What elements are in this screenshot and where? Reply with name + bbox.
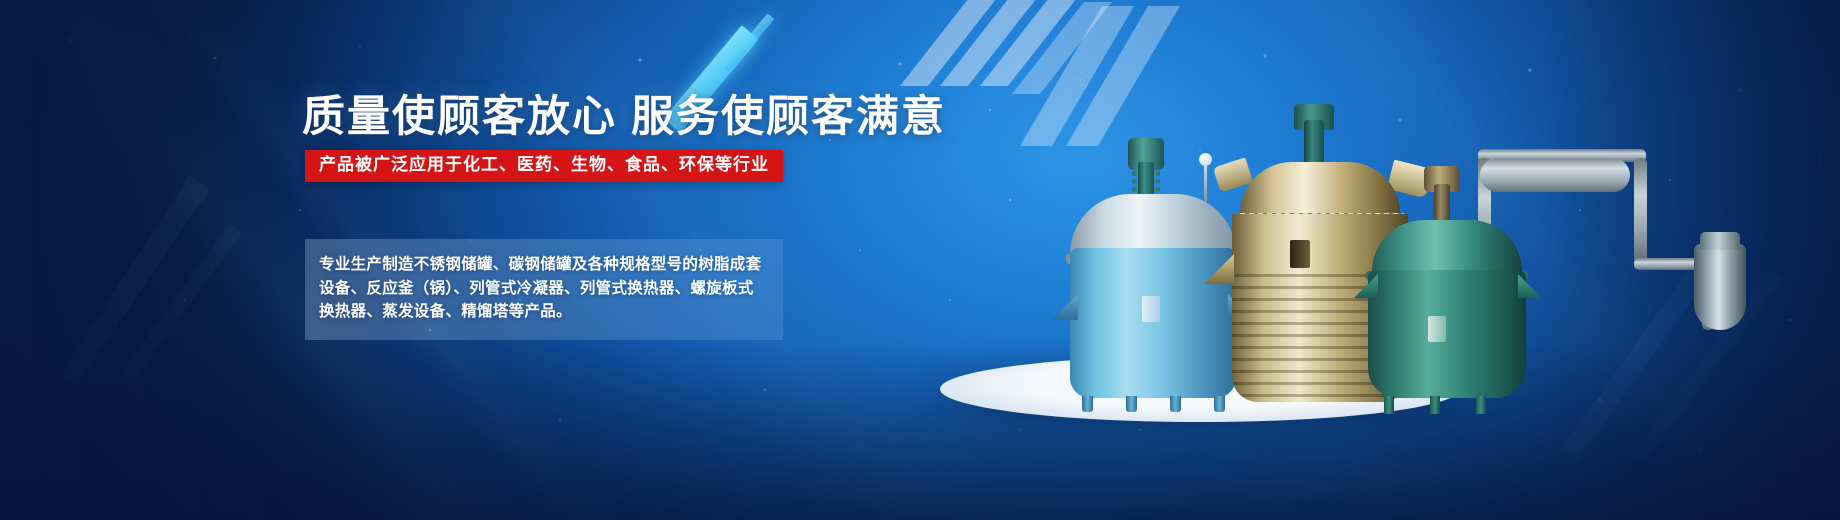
sight-glass: [1290, 240, 1310, 268]
white-diagonal-stripes-secondary: [1012, 0, 1212, 176]
description-line-3: 换热器、蒸发设备、精馏塔等产品。: [319, 300, 765, 324]
vessel-leg-1: [1082, 396, 1093, 412]
sight-glass: [1142, 296, 1160, 322]
description-panel: 专业生产制造不锈钢储罐、碳钢储罐及各种规格型号的树脂成套 设备、反应釜（锅）、列…: [305, 239, 783, 340]
receiver-tank: [1694, 244, 1746, 330]
receiver-tank-top: [1700, 232, 1740, 250]
condenser-pipe-vertical-right: [1634, 158, 1647, 264]
banner-text-column: 质量使顾客放心 服务使顾客满意 产品被广泛应用于化工、医药、生物、食品、环保等行…: [0, 0, 860, 520]
vessel-leg-3: [1476, 396, 1486, 414]
vessel-dome: [1372, 220, 1522, 276]
agitator-column: [1304, 120, 1324, 166]
vessel-leg-2: [1126, 396, 1137, 412]
sight-glass: [1428, 316, 1446, 342]
banner-headline: 质量使顾客放心 服务使顾客满意: [302, 96, 946, 139]
description-line-1: 专业生产制造不锈钢储罐、碳钢储罐及各种规格型号的树脂成套: [319, 253, 765, 277]
highlight-bar: 产品被广泛应用于化工、医药、生物、食品、环保等行业: [305, 150, 783, 182]
vessel-leg-3: [1170, 396, 1181, 412]
vessel-leg-2: [1430, 396, 1440, 414]
agitator-column: [1434, 184, 1450, 224]
vessel-body: [1368, 270, 1526, 398]
green-enamel-reactor: [1358, 148, 1538, 398]
antenna-rod: [1204, 162, 1207, 202]
highlight-bar-text: 产品被广泛应用于化工、医药、生物、食品、环保等行业: [319, 156, 769, 175]
promotional-banner: 质量使顾客放心 服务使顾客满意 产品被广泛应用于化工、医药、生物、食品、环保等行…: [0, 0, 1840, 520]
description-line-2: 设备、反应釜（锅）、列管式冷凝器、列管式换热器、螺旋板式: [319, 277, 765, 301]
vessel-leg-1: [1384, 396, 1394, 414]
